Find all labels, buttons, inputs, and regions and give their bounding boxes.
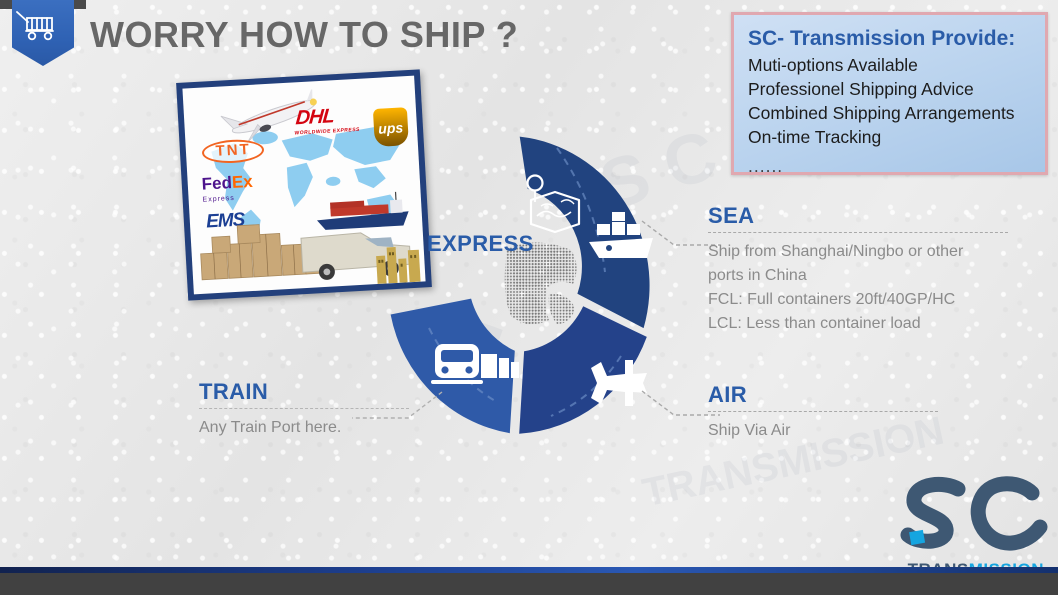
callout-sea-rule: [708, 232, 1008, 233]
callout-sea-line-3: FCL: Full containers 20ft/40GP/HC: [708, 288, 1008, 312]
callout-sea-line-1: Ship from Shanghai/Ningbo or other: [708, 240, 1008, 264]
callout-train-title: TRAIN: [199, 379, 409, 405]
callout-sea-line-4: LCL: Less than container load: [708, 312, 1008, 336]
info-card-line-1: Muti-options Available: [748, 53, 1033, 77]
callout-air-body: Ship Via Air: [708, 419, 938, 443]
footer-bar: [0, 573, 1058, 595]
callout-sea-body: Ship from Shanghai/Ningbo or other ports…: [708, 240, 1008, 336]
logo-fedex: FedEx Express: [201, 173, 254, 208]
sc-monogram-icon: [900, 473, 1048, 551]
info-card-title: SC- Transmission Provide:: [748, 25, 1033, 52]
info-card-line-3: Combined Shipping Arrangements: [748, 101, 1033, 125]
logo-dhl: DHL WORLDWIDE EXPRESS: [295, 103, 363, 136]
callout-sea-title: SEA: [708, 203, 1008, 229]
callout-train: TRAIN Any Train Port here.: [199, 379, 409, 440]
slide-canvas: S C Z N TRANSMISSION WORRY HOW TO SHIP ?…: [0, 0, 1058, 595]
logo-dhl-text: DHL: [295, 105, 335, 129]
page-title: WORRY HOW TO SHIP ?: [90, 14, 518, 56]
callout-sea-line-2: ports in China: [708, 264, 1008, 288]
callout-air: AIR Ship Via Air: [708, 382, 938, 443]
logo-fedex-fed: Fed: [201, 173, 232, 194]
info-card: SC- Transmission Provide: Muti-options A…: [731, 12, 1048, 175]
info-card-line-4: On-time Tracking: [748, 125, 1033, 149]
callout-train-body: Any Train Port here.: [199, 416, 409, 440]
callout-air-rule: [708, 411, 938, 412]
logo-fedex-ex: Ex: [231, 171, 253, 191]
info-card-line-2: Professionel Shipping Advice: [748, 77, 1033, 101]
info-card-trailing-dots: ......: [748, 149, 1033, 178]
callout-sea: SEA Ship from Shanghai/Ningbo or other p…: [708, 203, 1008, 336]
callout-train-rule: [199, 408, 409, 409]
brand-logo: TRANSMISSION: [900, 473, 1048, 577]
express-label: EXPRESS: [427, 231, 534, 257]
hand-truck-icon: [14, 9, 60, 43]
callout-air-title: AIR: [708, 382, 938, 408]
logo-fedex-sub: Express: [202, 189, 254, 208]
